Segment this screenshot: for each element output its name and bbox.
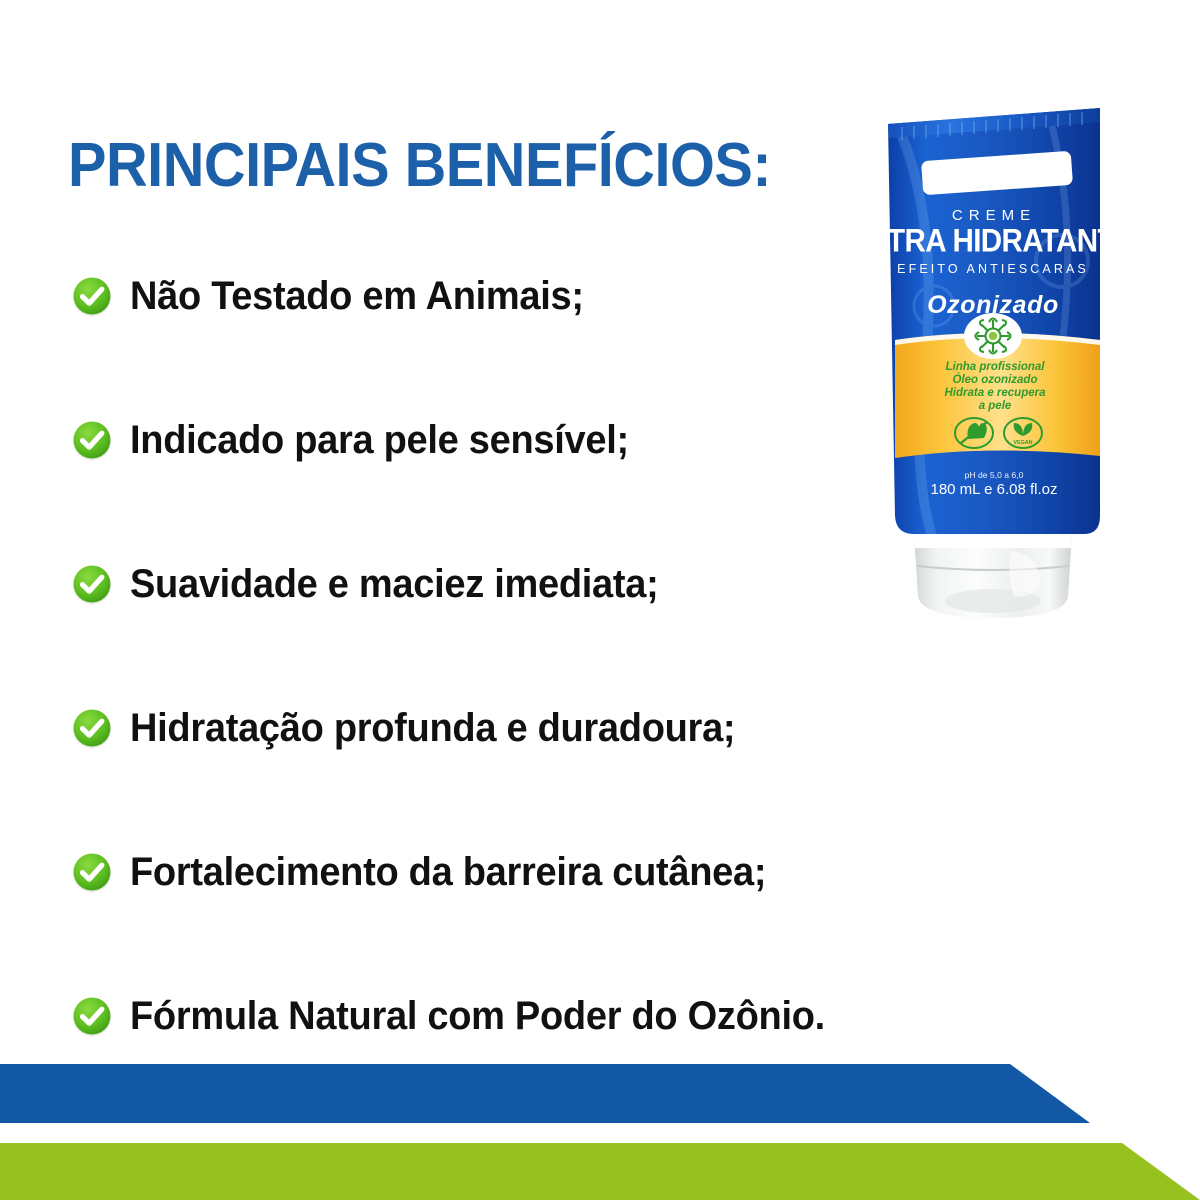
footer-bar-green [0, 1143, 1200, 1200]
list-item: Fortalecimento da barreira cutânea; [70, 838, 950, 906]
panel-text-line-4: a pele [979, 400, 1012, 412]
promo-canvas: PRINCIPAIS BENEFÍCIOS: [0, 0, 1200, 1200]
panel-text-line-3: Hidrata e recupera [945, 387, 1047, 399]
tube-volume-text: 180 mL e 6.08 fl.oz [930, 481, 1057, 498]
tube-cap [914, 534, 1072, 618]
panel-text-line-2: Óleo ozonizado [953, 373, 1038, 386]
footer-bar-blue [0, 1064, 1200, 1123]
check-circle-icon [70, 706, 114, 750]
list-item: Hidratação profunda e duradoura; [70, 694, 950, 762]
check-circle-icon [70, 418, 114, 462]
list-item-label: Hidratação profunda e duradoura; [130, 708, 735, 748]
vegan-badge-label: VEGAN [1013, 440, 1032, 446]
list-item-label: Suavidade e maciez imediata; [130, 564, 658, 604]
list-item-label: Indicado para pele sensível; [130, 420, 629, 460]
list-item: Suavidade e maciez imediata; [70, 550, 950, 618]
list-item: Fórmula Natural com Poder do Ozônio. [70, 982, 950, 1050]
product-line-efeito-antiescaras: EFEITO ANTIESCARAS [897, 262, 1089, 276]
list-item: Indicado para pele sensível; [70, 406, 950, 474]
check-circle-icon [70, 562, 114, 606]
list-item-label: Fortalecimento da barreira cutânea; [130, 852, 766, 892]
benefits-list: Não Testado em Animais; Indicado para pe… [70, 262, 950, 1050]
list-item: Não Testado em Animais; [70, 262, 950, 330]
panel-text-line-1: Linha profissional [945, 361, 1045, 373]
product-image-tube: AquaSonus CREME ULTRA HIDRATANTE EFEITO … [862, 96, 1118, 636]
check-circle-icon [70, 274, 114, 318]
page-title: PRINCIPAIS BENEFÍCIOS: [68, 133, 771, 198]
product-line-ultra-hidratante: ULTRA HIDRATANTE [862, 222, 1118, 259]
check-circle-icon [70, 994, 114, 1038]
sunflower-ozone-icon [964, 313, 1022, 359]
list-item-label: Fórmula Natural com Poder do Ozônio. [130, 996, 825, 1036]
list-item-label: Não Testado em Animais; [130, 276, 584, 316]
tube-ph-text: pH de 5,0 a 6,0 [965, 470, 1024, 480]
check-circle-icon [70, 850, 114, 894]
